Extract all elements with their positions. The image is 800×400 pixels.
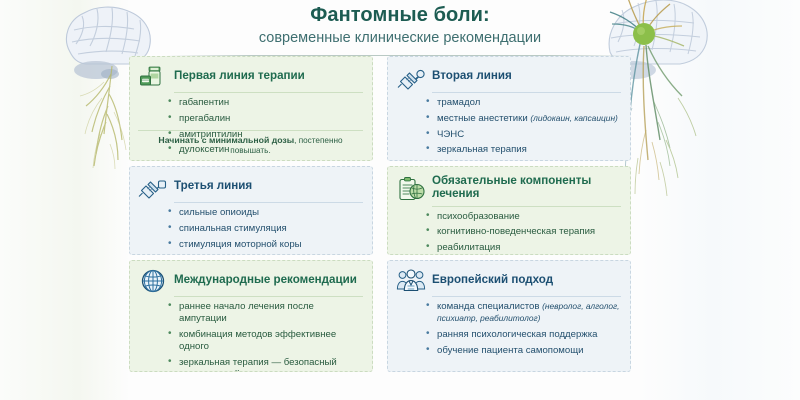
card-header: Обязательные компоненты лечения [396, 174, 621, 204]
right-edge-wash [640, 0, 800, 400]
card-title: Первая линия терапии [174, 69, 305, 85]
card-title: Европейский подход [432, 273, 553, 289]
list-item: психообразование [426, 211, 621, 223]
left-edge-wash [0, 0, 130, 400]
header-divider [165, 55, 635, 56]
list-item: стимуляция моторной коры [168, 239, 363, 251]
list-item: обучение пациента самопомощи [426, 345, 621, 357]
list-item: трамадол [426, 97, 621, 109]
card-title-divider [432, 296, 621, 297]
card-title-divider [174, 92, 363, 93]
list-item: комбинация методов эффективнее одного [168, 329, 363, 354]
syringe-icon [396, 64, 426, 90]
card-title: Международные рекомендации [174, 273, 357, 289]
list-item: габапентин [168, 97, 363, 109]
list-item: прегабалин [168, 113, 363, 125]
infographic-page: Фантомные боли: современные клинические … [0, 0, 800, 400]
dosage-note: Начинать с минимальной дозы, постепенно … [138, 130, 363, 155]
list-item: ранняя психологическая поддержка [426, 329, 621, 341]
card-european-approach[interactable]: Европейский подход команда специалистов … [387, 260, 631, 372]
card-header: Третья линия [138, 174, 363, 200]
page-subtitle: современные клинические рекомендации [0, 29, 800, 48]
list-item: спинальная стимуляция [168, 223, 363, 235]
list-item: сильные опиоиды [168, 207, 363, 219]
page-header: Фантомные боли: современные клинические … [0, 4, 800, 56]
card-title-divider [432, 92, 621, 93]
card-title-divider [174, 202, 363, 203]
list-item: ЧЭНС [426, 129, 621, 141]
globe-icon [138, 268, 168, 294]
card-bullet-list: трамадол местные анестетики (лидокаин, к… [426, 97, 621, 157]
card-header: Европейский подход [396, 268, 621, 294]
card-header: Вторая линия [396, 64, 621, 90]
recommendation-card-grid: Первая линия терапии габапентин прегабал… [129, 56, 655, 378]
card-title: Вторая линия [432, 69, 512, 85]
list-item: раннее начало лечения после ампутации [168, 301, 363, 326]
page-title: Фантомные боли: [0, 4, 800, 27]
list-item: когнитивно-поведенческая терапия [426, 226, 621, 238]
card-mandatory-components[interactable]: Обязательные компоненты лечения психообр… [387, 166, 631, 255]
card-second-line[interactable]: Вторая линия трамадол местные анестетики… [387, 56, 631, 161]
list-item: реабилитация [426, 242, 621, 254]
syringe-icon [138, 174, 168, 200]
card-title-divider [432, 206, 621, 207]
card-header: Международные рекомендации [138, 268, 363, 294]
list-item: зеркальная терапия — безопасный метод пе… [168, 357, 363, 372]
list-item: команда специалистов (невролог, алголог,… [426, 301, 621, 326]
pill-bottle-icon [138, 64, 168, 90]
card-title: Третья линия [174, 179, 252, 195]
card-title-divider [174, 296, 363, 297]
list-item: местные анестетики (лидокаин, капсаицин) [426, 113, 621, 125]
care-team-icon [396, 268, 426, 294]
clipboard-brain-icon [396, 176, 426, 202]
card-third-line[interactable]: Третья линия сильные опиоиды спинальная … [129, 166, 373, 255]
card-title: Обязательные компоненты лечения [432, 174, 621, 204]
card-first-line-therapy[interactable]: Первая линия терапии габапентин прегабал… [129, 56, 373, 161]
card-international-recommendations[interactable]: Международные рекомендации раннее начало… [129, 260, 373, 372]
list-item: зеркальная терапия [426, 144, 621, 156]
list-item-note: (лидокаин, капсаицин) [530, 113, 617, 123]
card-bullet-list: сильные опиоиды спинальная стимуляция ст… [168, 207, 363, 251]
card-bullet-list: команда специалистов (невролог, алголог,… [426, 301, 621, 357]
dosage-note-strong: Начинать с минимальной дозы [158, 135, 294, 145]
card-header: Первая линия терапии [138, 64, 363, 90]
card-bullet-list: психообразование когнитивно-поведенческа… [426, 211, 621, 255]
card-bullet-list: раннее начало лечения после ампутации ко… [168, 301, 363, 372]
